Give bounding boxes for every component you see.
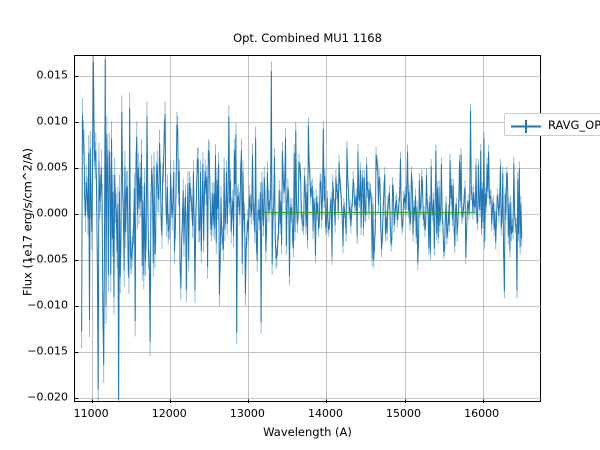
page-title: Opt. Combined MU1 1168	[74, 31, 541, 45]
y-tick-label: 0.000	[37, 207, 69, 220]
spectrum-plot-area	[75, 56, 542, 403]
y-tick-label: 0.005	[37, 161, 69, 174]
y-tick-label: 0.010	[37, 115, 69, 128]
legend-label-ravg-opt: RAVG_OPT	[548, 118, 600, 132]
legend-errorbar-icon	[511, 118, 541, 131]
legend-box[interactable]: RAVG_OPT	[504, 113, 600, 136]
y-axis-label: Flux (1e17 erg/s/cm^2/A)	[21, 49, 35, 396]
x-axis-label: Wavelength (A)	[74, 425, 541, 439]
x-tick-label: 12000	[152, 407, 187, 420]
plot-axes: RAVG_OPT	[74, 55, 541, 402]
figure-canvas: Opt. Combined MU1 1168 0.0150.0100.0050.…	[0, 0, 600, 450]
x-tick-label: 16000	[464, 407, 499, 420]
x-tick-label: 11000	[74, 407, 109, 420]
x-axis-tick-labels: 110001200013000140001500016000	[74, 407, 541, 423]
x-tick-label: 15000	[386, 407, 421, 420]
x-tick-label: 13000	[230, 407, 265, 420]
y-tick-label: 0.015	[37, 69, 69, 82]
x-tick-label: 14000	[308, 407, 343, 420]
